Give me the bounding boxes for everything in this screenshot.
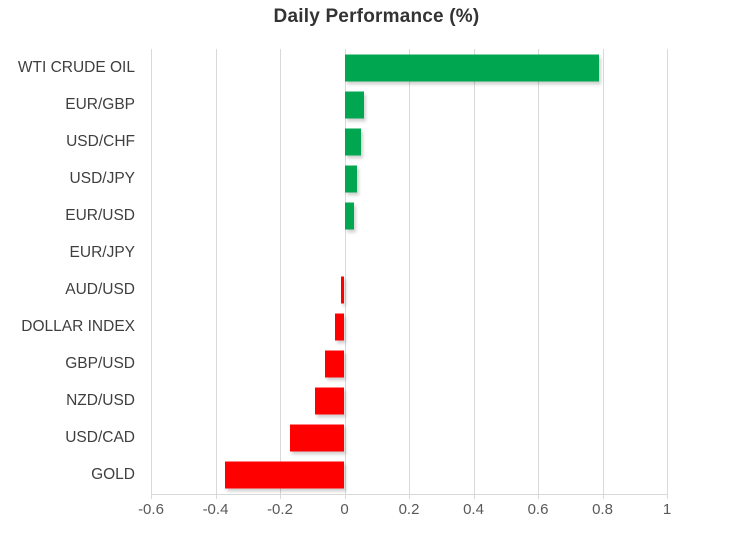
daily-performance-chart: Daily Performance (%) WTI CRUDE OILEUR/G… (0, 0, 753, 539)
y-axis-label: GBP/USD (65, 355, 135, 373)
chart-title: Daily Performance (%) (0, 6, 753, 28)
y-axis-label: AUD/USD (65, 281, 135, 299)
y-axis-label: GOLD (91, 466, 135, 484)
y-axis-category-labels: WTI CRUDE OILEUR/GBPUSD/CHFUSD/JPYEUR/US… (0, 49, 143, 494)
gridline-x (409, 49, 410, 494)
y-axis-label: USD/JPY (70, 170, 135, 188)
gridline-x (603, 49, 604, 494)
plot-area: -0.6-0.4-0.200.20.40.60.81 (151, 49, 667, 494)
gridline-x (474, 49, 475, 494)
bar (345, 128, 361, 155)
bar (325, 351, 344, 378)
bar (345, 165, 358, 192)
y-axis-label: WTI CRUDE OIL (18, 59, 135, 77)
bar (345, 54, 600, 81)
gridline-x (667, 49, 668, 494)
gridline-x (280, 49, 281, 494)
gridline-x (538, 49, 539, 494)
y-axis-label: EUR/USD (65, 207, 135, 225)
bar (341, 277, 344, 304)
y-axis-label: EUR/JPY (70, 244, 135, 262)
bar (335, 314, 345, 341)
gridline-x (151, 49, 152, 494)
y-axis-label: NZD/USD (66, 392, 135, 410)
bar (345, 202, 355, 229)
bar (225, 462, 344, 489)
bar (315, 388, 344, 415)
gridline-x (216, 49, 217, 494)
bar (345, 91, 364, 118)
y-axis-label: EUR/GBP (65, 96, 135, 114)
x-axis-line (151, 494, 668, 495)
x-axis-tick-label: 1 (627, 501, 707, 518)
bar (290, 425, 345, 452)
y-axis-label: DOLLAR INDEX (21, 318, 135, 336)
y-axis-label: USD/CHF (66, 133, 135, 151)
y-axis-label: USD/CAD (65, 429, 135, 447)
